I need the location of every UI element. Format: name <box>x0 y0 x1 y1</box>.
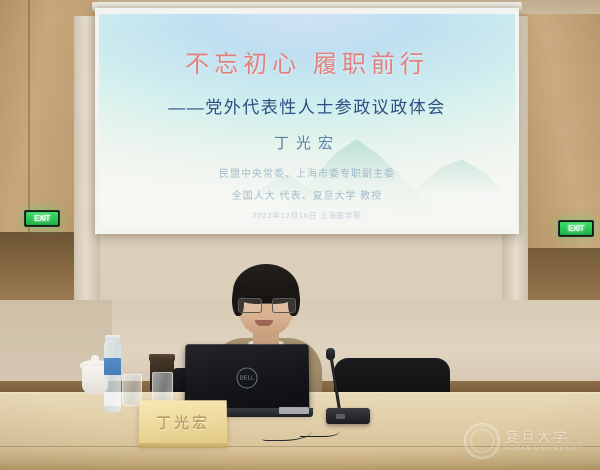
eyeglass-lens-right <box>272 298 296 313</box>
water-bottle-lower-label <box>104 392 121 406</box>
name-placard-text: 丁光宏 <box>156 412 210 433</box>
fudan-watermark-text: 复旦大学 FUDAN UNIVERSITY <box>505 430 584 453</box>
slide-title: 不忘初心 履职前行 <box>99 44 515 79</box>
fudan-watermark: 复旦大学 FUDAN UNIVERSITY <box>464 418 592 464</box>
slide-speaker-name: 丁光宏 <box>99 132 515 153</box>
eyeglass-lens-left <box>238 298 262 313</box>
dell-logo-text: DELL <box>240 375 255 381</box>
teacup-knob <box>91 355 99 361</box>
fudan-watermark-en: FUDAN UNIVERSITY <box>505 447 584 453</box>
name-placard-fold <box>139 443 227 448</box>
slide-date-venue: 2022年12月16日 上海医学院 <box>99 210 515 221</box>
exit-sign-glow-right: EXIT <box>560 222 592 235</box>
name-placard: 丁光宏 <box>139 400 228 444</box>
microphone-button <box>336 414 345 419</box>
slide-credential-line-2: 全国人大 代表、复旦大学 教授 <box>99 187 515 202</box>
slide-subtitle: ——党外代表性人士参政议政体会 <box>99 93 515 118</box>
dell-logo-icon: DELL <box>236 368 257 389</box>
fudan-seal-inner <box>470 429 494 453</box>
projection-screen: 不忘初心 履职前行 ——党外代表性人士参政议政体会 丁光宏 民盟中央常委、上海市… <box>99 14 515 228</box>
fudan-watermark-cn: 复旦大学 <box>505 430 584 444</box>
exit-sign-icon-left: EXIT <box>24 210 60 227</box>
wood-panel-seam <box>28 0 30 235</box>
fudan-seal-icon <box>464 423 500 459</box>
exit-sign-label-right: EXIT <box>568 224 584 233</box>
slide-content: 不忘初心 履职前行 ——党外代表性人士参政议政体会 丁光宏 民盟中央常委、上海市… <box>99 14 515 221</box>
eyeglasses-icon <box>237 298 295 311</box>
slide-credential-line-1: 民盟中央常委、上海市委专职副主委 <box>99 165 515 180</box>
exit-sign-glow-left: EXIT <box>26 212 58 225</box>
lecture-photo: EXIT EXIT 不忘初心 履职前行 ——党外代表性人士参政议政体会 丁光宏 … <box>0 0 600 470</box>
exit-sign-icon-right: EXIT <box>558 220 594 237</box>
eyeglass-bridge <box>260 303 272 304</box>
water-bottle-label <box>104 358 121 375</box>
exit-sign-label-left: EXIT <box>34 214 50 223</box>
laptop-sticker <box>279 407 309 414</box>
